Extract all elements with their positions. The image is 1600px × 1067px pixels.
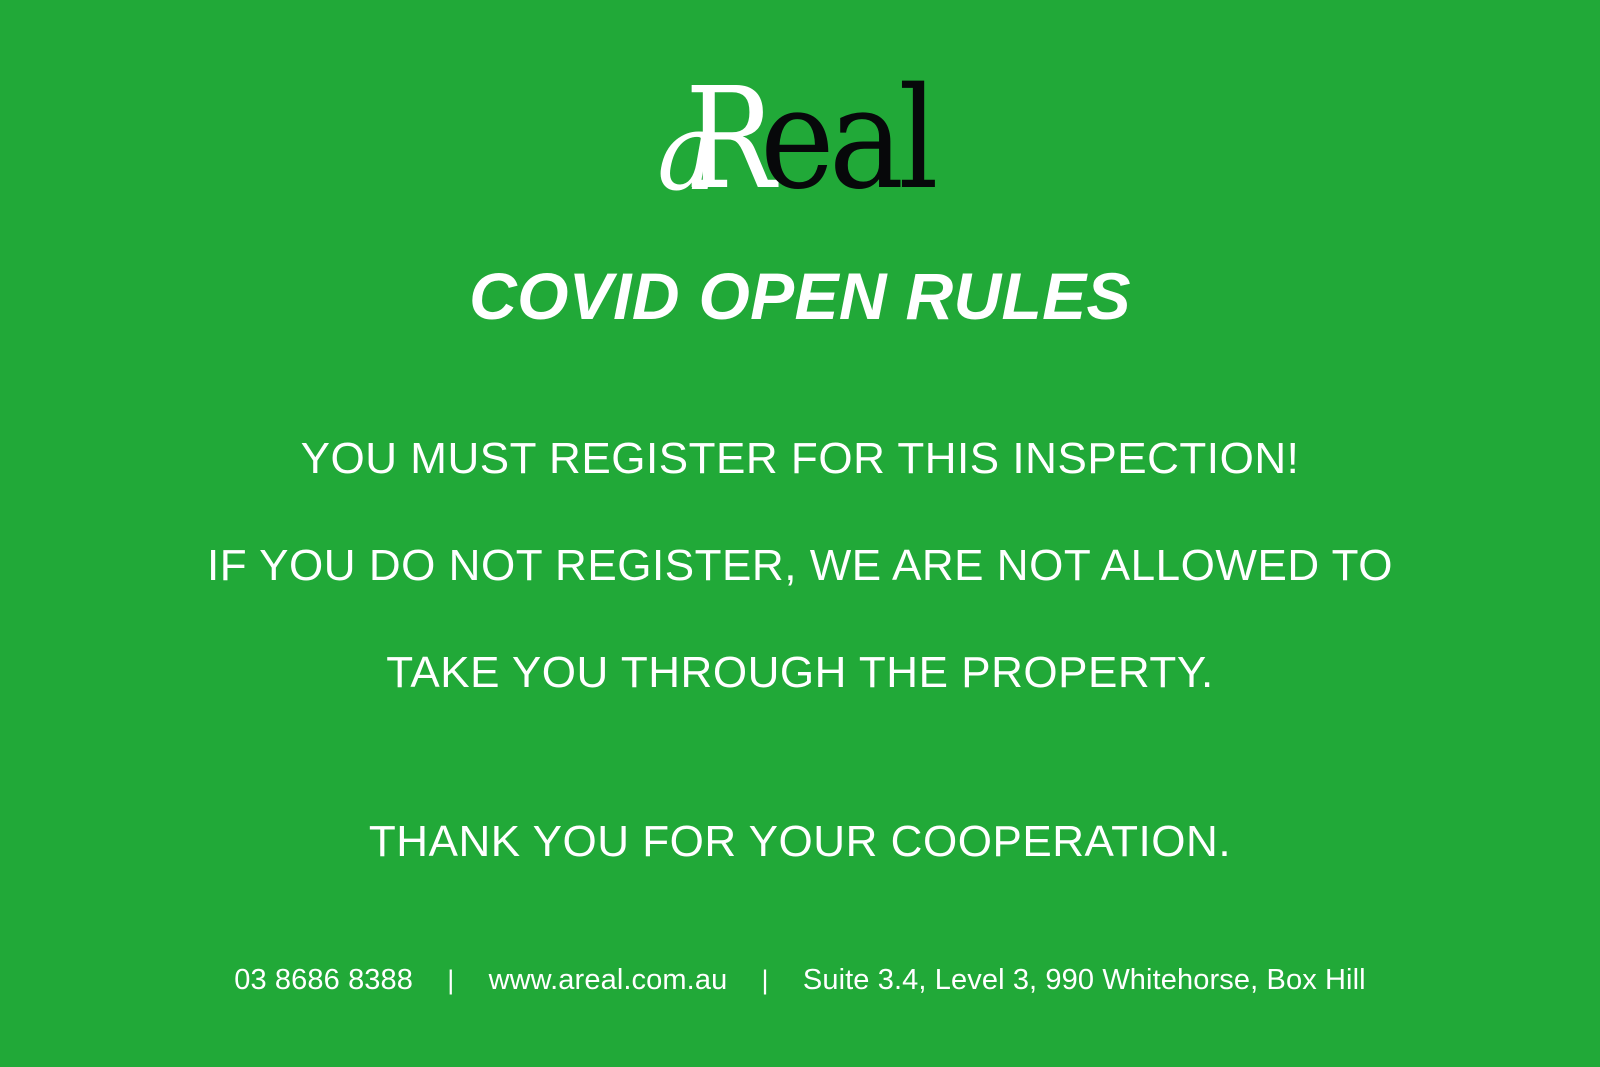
footer-phone[interactable]: 03 8686 8388 <box>234 963 413 998</box>
notice-closing: THANK YOU FOR YOUR COOPERATION. <box>0 788 1600 895</box>
footer-separator-2: | <box>762 964 769 996</box>
footer-address: Suite 3.4, Level 3, 990 Whitehorse, Box … <box>803 963 1366 998</box>
logo-letter-r: R <box>685 70 764 210</box>
footer-website[interactable]: www.areal.com.au <box>489 963 728 998</box>
body-spacer <box>0 726 1600 788</box>
footer-separator-1: | <box>447 964 454 996</box>
notice-line-3: TAKE YOU THROUGH THE PROPERTY. <box>0 619 1600 726</box>
page-title: COVID OPEN RULES <box>0 262 1600 331</box>
logo-letters-eal: eal <box>760 70 933 210</box>
poster-canvas: aReal COVID OPEN RULES YOU MUST REGISTER… <box>0 0 1600 1067</box>
notice-line-1: YOU MUST REGISTER FOR THIS INSPECTION! <box>0 405 1600 512</box>
brand-logo: aReal <box>0 60 1600 210</box>
contact-footer: 03 8686 8388 | www.areal.com.au | Suite … <box>0 962 1600 998</box>
notice-line-2: IF YOU DO NOT REGISTER, WE ARE NOT ALLOW… <box>0 512 1600 619</box>
notice-body: YOU MUST REGISTER FOR THIS INSPECTION! I… <box>0 405 1600 895</box>
logo-wordmark: aReal <box>648 70 952 210</box>
